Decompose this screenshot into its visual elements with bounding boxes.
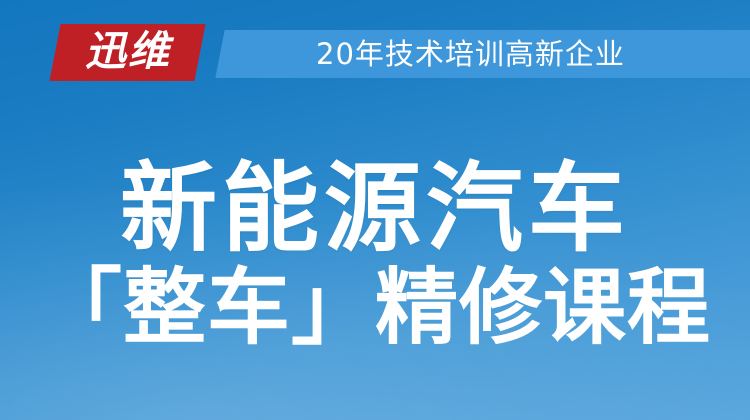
tagline-text: 20年技术培训高新企业 <box>316 30 625 78</box>
headline-main-title: 新能源汽车 <box>0 160 750 257</box>
headline-block: 新能源汽车 「整车」精修课程 <box>0 160 750 349</box>
promo-poster: 迅维 20年技术培训高新企业 新能源汽车 「整车」精修课程 <box>0 0 750 420</box>
brand-logo-badge: 迅维 <box>49 24 205 81</box>
poster-header: 迅维 20年技术培训高新企业 <box>0 0 750 105</box>
brand-logo-text: 迅维 <box>85 31 171 74</box>
headline-sub-title: 「整车」精修课程 <box>0 266 750 349</box>
